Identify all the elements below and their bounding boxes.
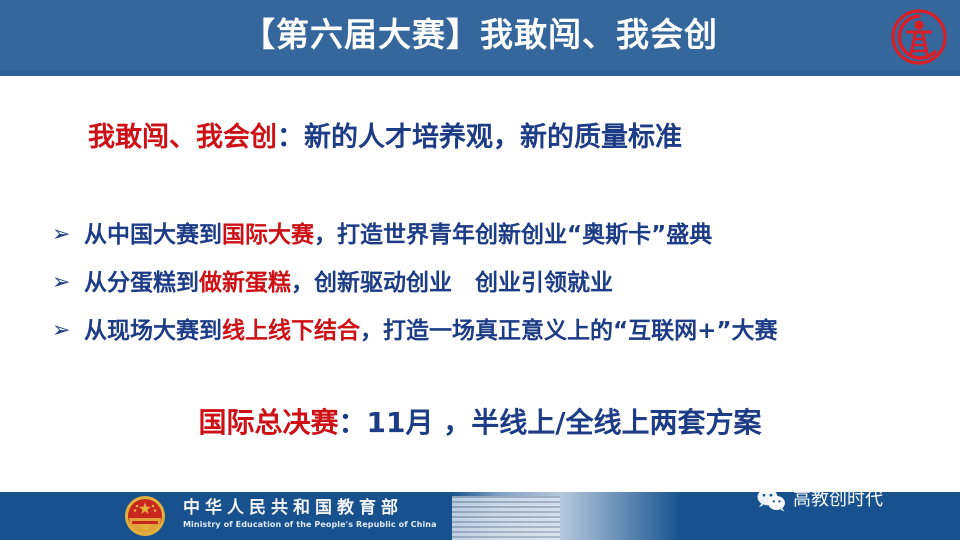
bullet-tail: ，打造一场真正意义上的“互联网+”大赛 (360, 318, 778, 344)
ministry-name-en: Ministry of Education of the People's Re… (183, 519, 437, 531)
slide-canvas: 【第六届大赛】我敢闯、我会创 我敢闯、我会创：新的人才培养观，新的质量标准 ➢ … (0, 0, 960, 540)
ministry-building-photo (452, 492, 712, 540)
list-item: ➢ 从中国大赛到国际大赛，打造世界青年创新创业“奥斯卡”盛典 (52, 218, 952, 252)
section-subtitle: 我敢闯、我会创：新的人才培养观，新的质量标准 (88, 118, 682, 158)
bullet-highlight: 国际大赛 (222, 222, 314, 248)
list-item-text: 从现场大赛到线上线下结合，打造一场真正意义上的“互联网+”大赛 (84, 314, 952, 348)
bullet-arrow-icon: ➢ (52, 266, 84, 300)
building-facade (452, 496, 560, 540)
list-item-text: 从中国大赛到国际大赛，打造世界青年创新创业“奥斯卡”盛典 (84, 218, 952, 252)
closing-highlight: 国际总决赛 (199, 406, 339, 439)
competition-emblem-icon (890, 8, 948, 66)
subtitle-highlight: 我敢闯、我会创 (88, 122, 277, 153)
bullet-lead: 从分蛋糕到 (84, 270, 199, 296)
bullet-highlight: 线上线下结合 (222, 318, 360, 344)
bullet-lead: 从现场大赛到 (84, 318, 222, 344)
subtitle-rest: ：新的人才培养观，新的质量标准 (277, 122, 682, 153)
bullet-tail: ，打造世界青年创新创业“奥斯卡”盛典 (314, 222, 712, 248)
closing-statement: 国际总决赛：11月 ，半线上/全线上两套方案 (0, 402, 960, 444)
watermark: 高教创时代 (756, 487, 883, 513)
list-item-text: 从分蛋糕到做新蛋糕，创新驱动创业 创业引领就业 (84, 266, 952, 300)
bullet-tail: ，创新驱动创业 创业引领就业 (291, 270, 613, 296)
ministry-name-cn: 中华人民共和国教育部 (183, 497, 437, 519)
header-underline (0, 70, 960, 76)
bullet-arrow-icon: ➢ (52, 218, 84, 252)
closing-rest: ：11月 ，半线上/全线上两套方案 (339, 406, 762, 439)
bullet-lead: 从中国大赛到 (84, 222, 222, 248)
watermark-label: 高教创时代 (793, 487, 883, 513)
bullet-highlight: 做新蛋糕 (199, 270, 291, 296)
bullet-arrow-icon: ➢ (52, 314, 84, 348)
page-title: 【第六届大赛】我敢闯、我会创 (0, 9, 960, 61)
ministry-name-block: 中华人民共和国教育部 Ministry of Education of the … (183, 497, 437, 531)
wechat-icon (756, 487, 786, 513)
bullet-list: ➢ 从中国大赛到国际大赛，打造世界青年创新创业“奥斯卡”盛典 ➢ 从分蛋糕到做新… (52, 218, 952, 362)
national-emblem-icon (123, 494, 167, 538)
list-item: ➢ 从分蛋糕到做新蛋糕，创新驱动创业 创业引领就业 (52, 266, 952, 300)
list-item: ➢ 从现场大赛到线上线下结合，打造一场真正意义上的“互联网+”大赛 (52, 314, 952, 348)
